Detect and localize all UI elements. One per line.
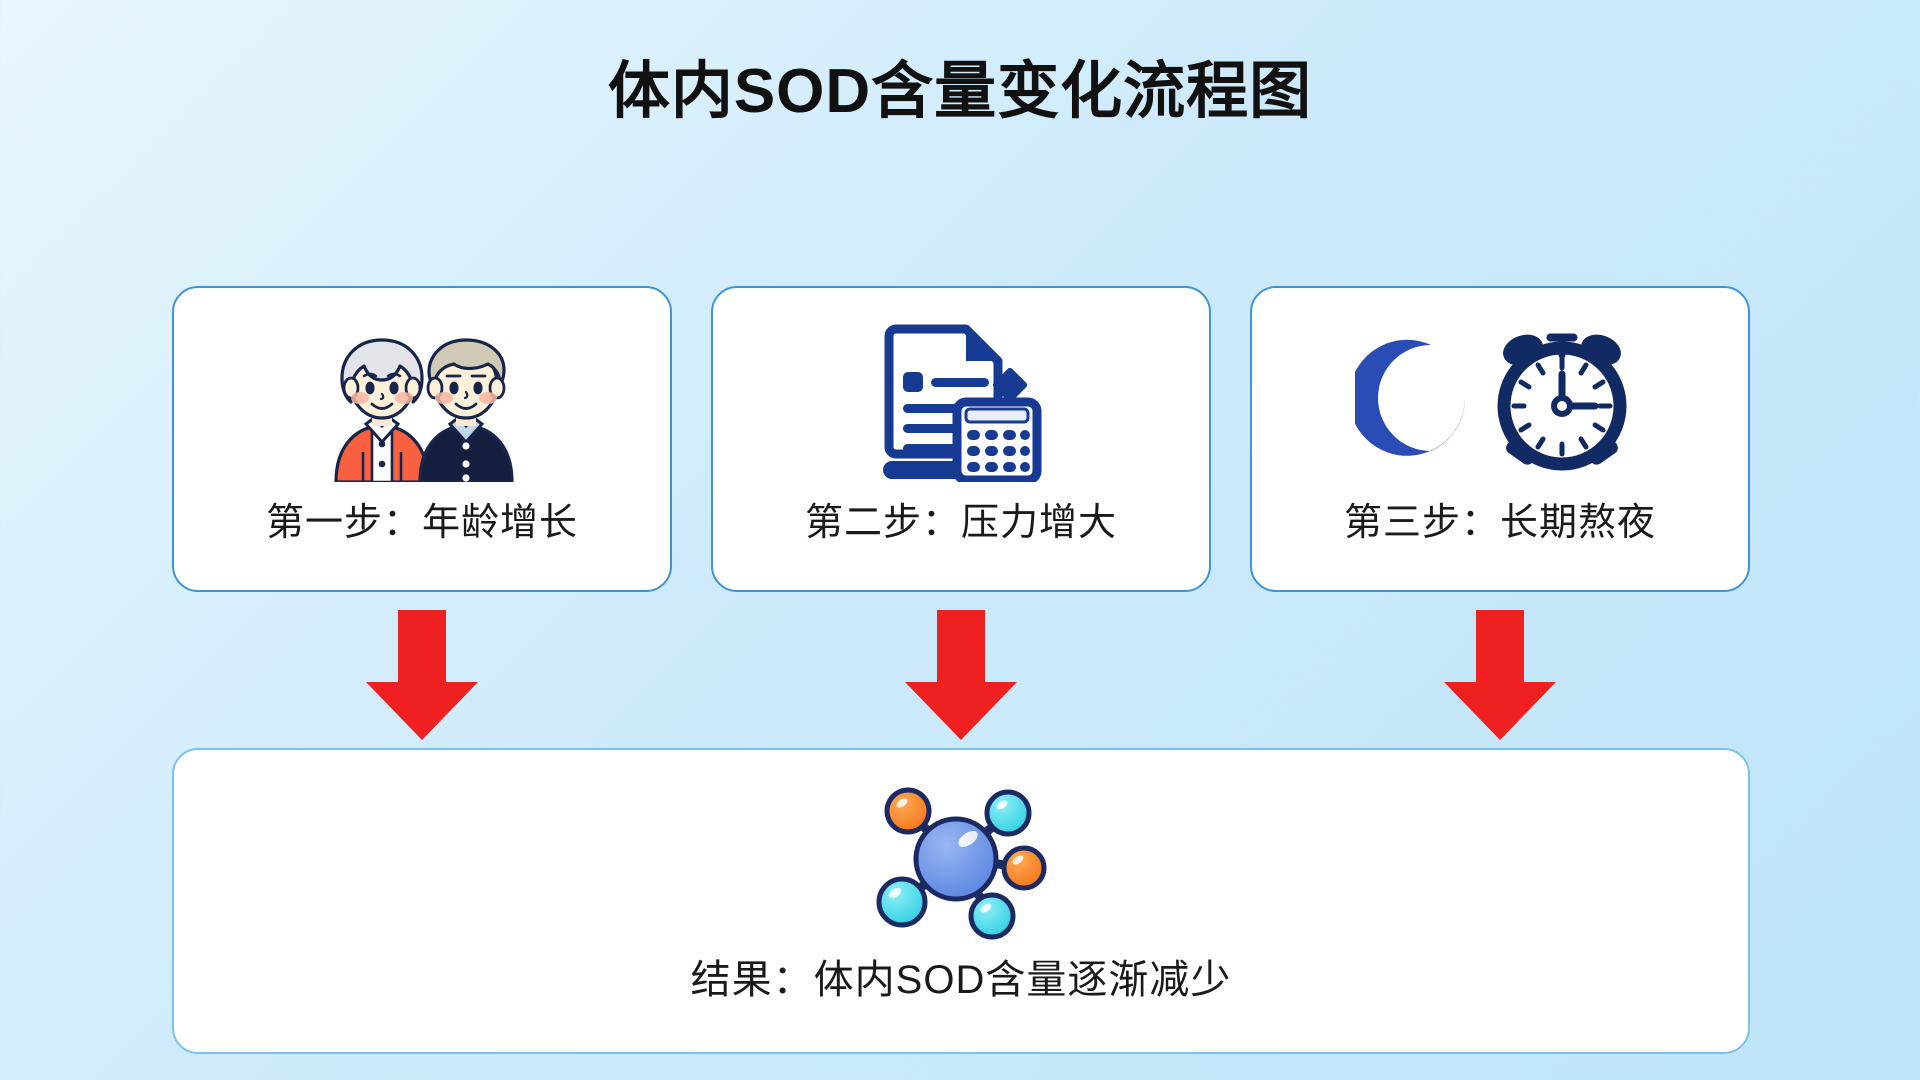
moon-shape (1355, 339, 1465, 455)
molecule-icon (856, 766, 1066, 951)
elderly-couple-icon (302, 310, 542, 485)
step-card-2[interactable]: 第二步：压力增大 (711, 286, 1211, 592)
down-arrow-icon-3 (1444, 610, 1556, 740)
step-card-1-label: 第一步：年龄增长 (266, 491, 578, 546)
document-calculator-icon (871, 310, 1051, 485)
step-card-2-label: 第二步：压力增大 (805, 491, 1117, 546)
step-card-1[interactable]: 第一步：年龄增长 (172, 286, 672, 592)
down-arrow-icon-1 (366, 610, 478, 740)
moon-alarm-clock-icon (1355, 310, 1645, 485)
step-card-3-label: 第三步：长期熬夜 (1344, 491, 1656, 546)
step-card-3[interactable]: 第三步：长期熬夜 (1250, 286, 1750, 592)
arrows-row (172, 610, 1750, 740)
arrow-slot-1 (172, 610, 672, 740)
result-box[interactable]: 结果：体内SOD含量逐渐减少 (172, 748, 1750, 1054)
arrow-slot-2 (711, 610, 1211, 740)
alarm-clock-shape (1499, 330, 1624, 467)
arrow-slot-3 (1250, 610, 1750, 740)
page-title: 体内SOD含量变化流程图 (0, 58, 1920, 126)
result-label: 结果：体内SOD含量逐渐减少 (691, 947, 1232, 1005)
down-arrow-icon-2 (905, 610, 1017, 740)
steps-row: 第一步：年龄增长 (172, 286, 1750, 592)
